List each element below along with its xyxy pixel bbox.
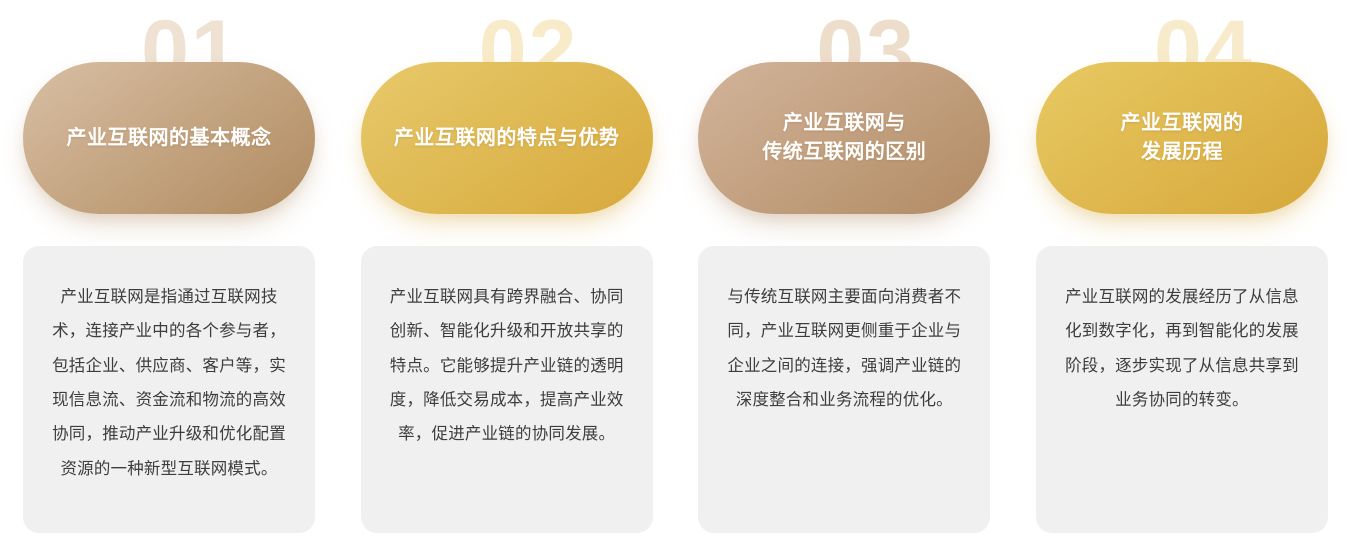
section-description-card-02: 产业互联网具有跨界融合、协同创新、智能化升级和开放共享的特点。它能够提升产业链的… xyxy=(361,246,653,533)
section-description-03: 与传统互联网主要面向消费者不同，产业互联网更侧重于企业与企业之间的连接，强调产业… xyxy=(724,280,964,513)
section-pill-wrap-03: 产业互联网与 传统互联网的区别 xyxy=(698,62,990,214)
section-pill-04[interactable]: 产业互联网的 发展历程 xyxy=(1036,62,1328,214)
section-pill-wrap-01: 产业互联网的基本概念 xyxy=(23,62,315,214)
section-pill-wrap-04: 产业互联网的 发展历程 xyxy=(1036,62,1328,214)
section-pill-03[interactable]: 产业互联网与 传统互联网的区别 xyxy=(698,62,990,214)
section-title-01: 产业互联网的基本概念 xyxy=(67,124,272,153)
section-pill-wrap-02: 产业互联网的特点与优势 xyxy=(361,62,653,214)
section-title-02: 产业互联网的特点与优势 xyxy=(394,124,620,153)
section-description-card-03: 与传统互联网主要面向消费者不同，产业互联网更侧重于企业与企业之间的连接，强调产业… xyxy=(698,246,990,533)
section-column-01: 01 产业互联网的基本概念 产业互联网是指通过互联网技术，连接产业中的各个参与者… xyxy=(20,0,318,556)
section-description-04: 产业互联网的发展经历了从信息化到数字化，再到智能化的发展阶段，逐步实现了从信息共… xyxy=(1062,280,1302,513)
section-column-02: 02 产业互联网的特点与优势 产业互联网具有跨界融合、协同创新、智能化升级和开放… xyxy=(358,0,656,556)
section-description-card-04: 产业互联网的发展经历了从信息化到数字化，再到智能化的发展阶段，逐步实现了从信息共… xyxy=(1036,246,1328,533)
section-description-01: 产业互联网是指通过互联网技术，连接产业中的各个参与者，包括企业、供应商、客户等，… xyxy=(49,280,289,513)
section-column-04: 04 产业互联网的 发展历程 产业互联网的发展经历了从信息化到数字化，再到智能化… xyxy=(1033,0,1331,556)
section-title-03: 产业互联网与 传统互联网的区别 xyxy=(762,109,926,167)
section-column-03: 03 产业互联网与 传统互联网的区别 与传统互联网主要面向消费者不同，产业互联网… xyxy=(695,0,993,556)
sections-board: 01 产业互联网的基本概念 产业互联网是指通过互联网技术，连接产业中的各个参与者… xyxy=(0,0,1351,556)
section-description-02: 产业互联网具有跨界融合、协同创新、智能化升级和开放共享的特点。它能够提升产业链的… xyxy=(387,280,627,513)
section-title-04: 产业互联网的 发展历程 xyxy=(1120,109,1243,167)
section-pill-02[interactable]: 产业互联网的特点与优势 xyxy=(361,62,653,214)
section-description-card-01: 产业互联网是指通过互联网技术，连接产业中的各个参与者，包括企业、供应商、客户等，… xyxy=(23,246,315,533)
section-pill-01[interactable]: 产业互联网的基本概念 xyxy=(23,62,315,214)
